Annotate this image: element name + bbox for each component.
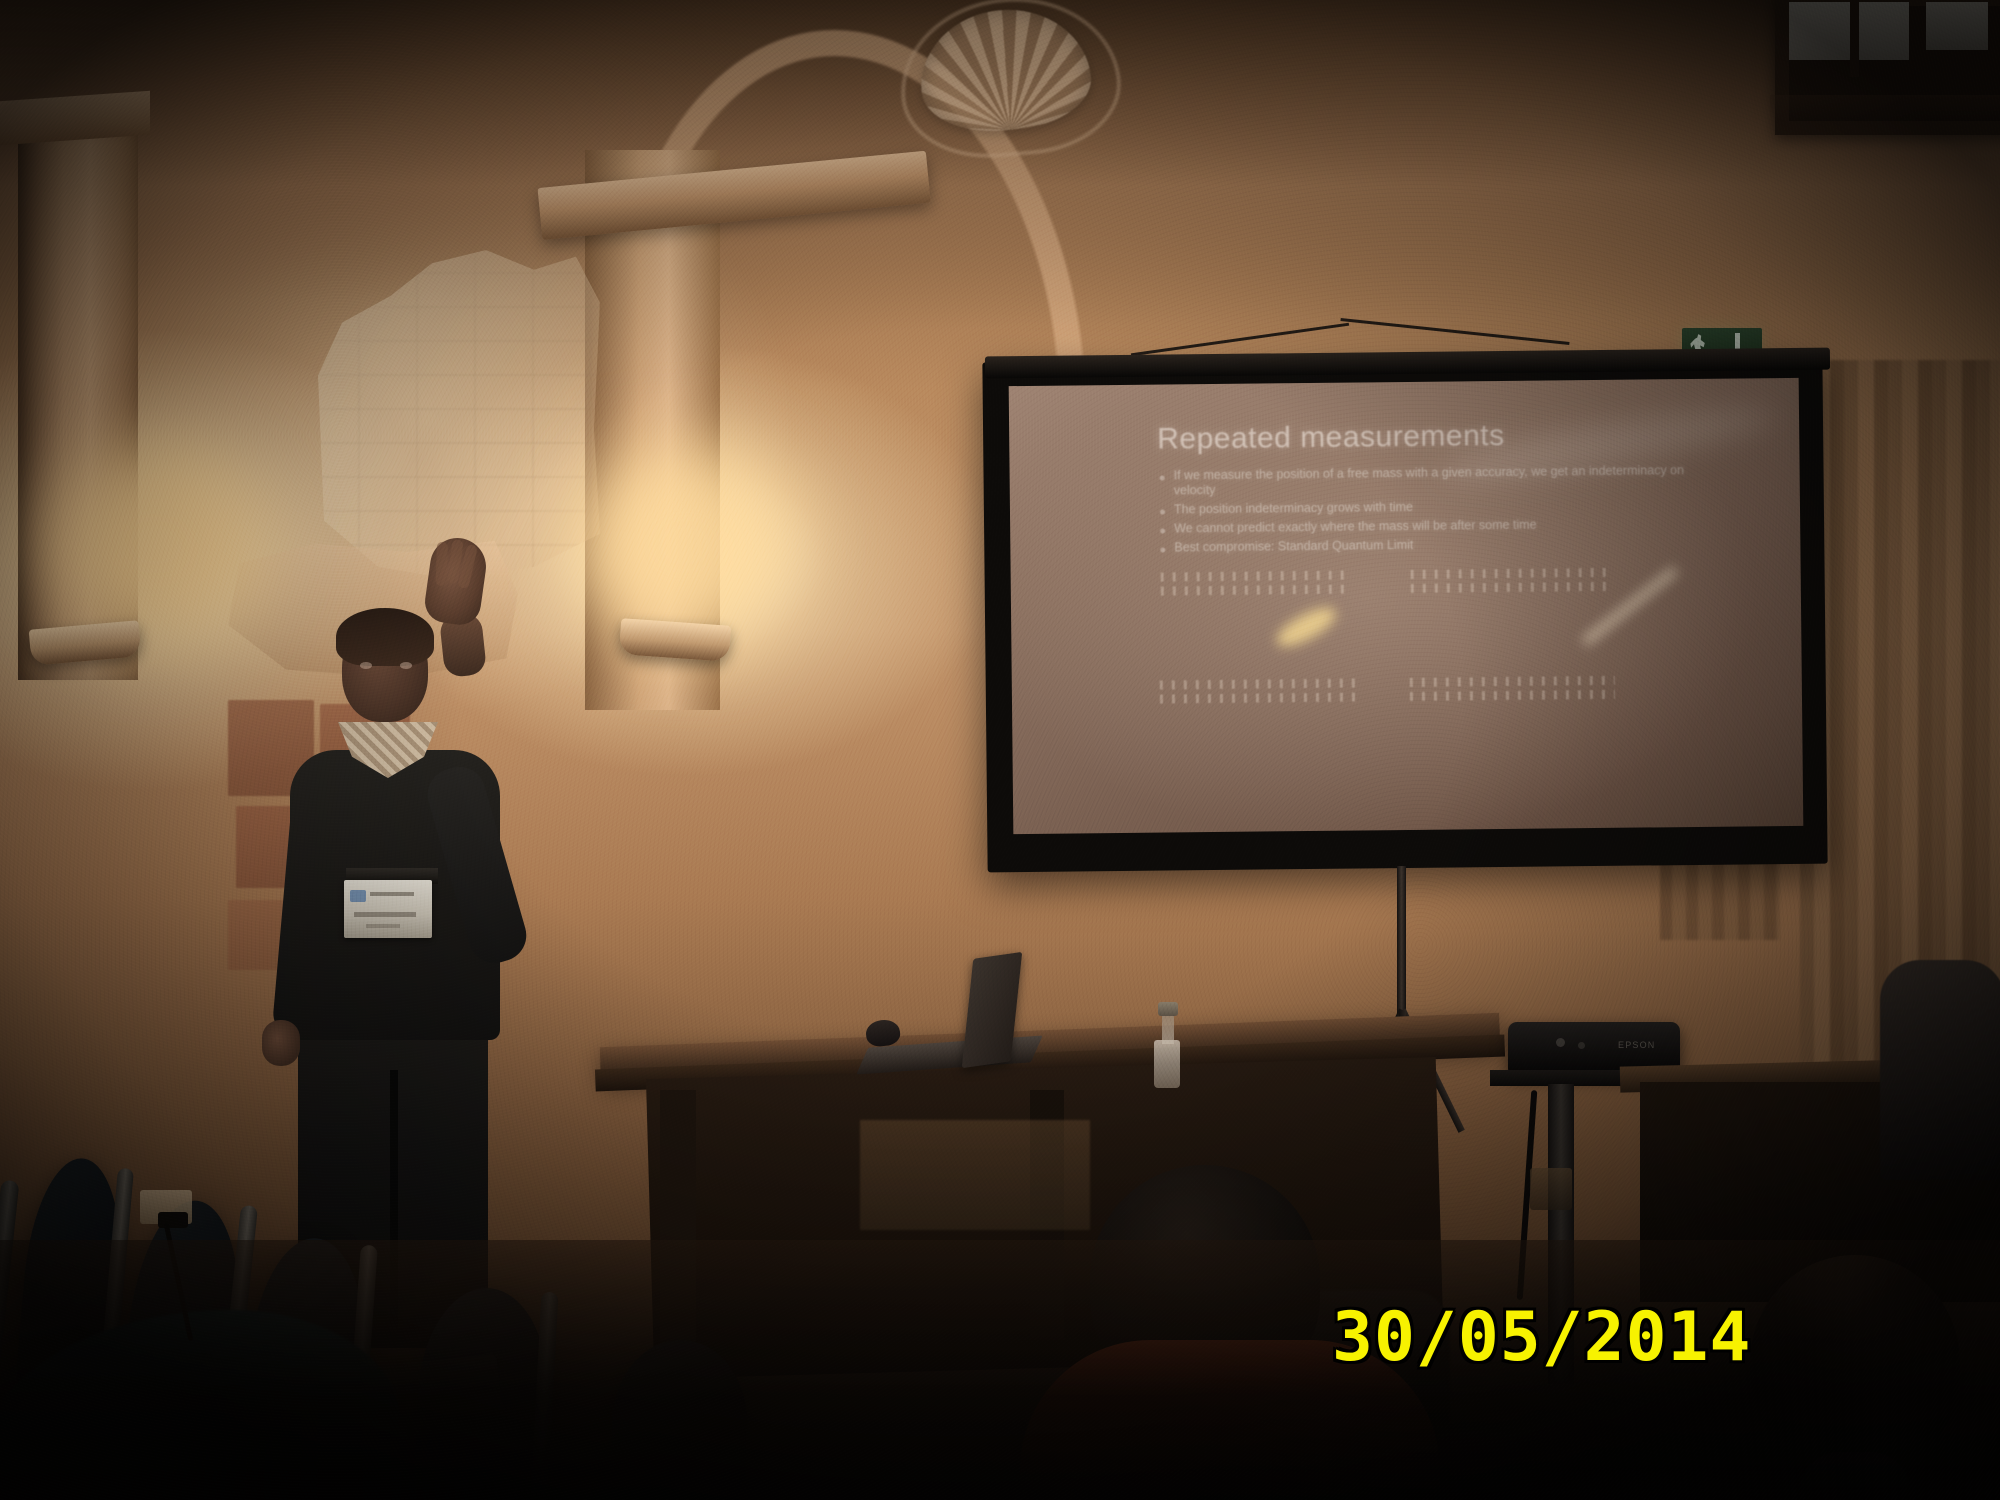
left-data-table (1161, 571, 1351, 601)
water-bottle-neck (1162, 1014, 1174, 1044)
slide-bullet-text: We cannot predict exactly where the mass… (1174, 518, 1537, 537)
badge-text-line (370, 892, 414, 896)
badge-text-line (366, 924, 400, 928)
data-row (1411, 582, 1611, 593)
bullet-dot-icon (1160, 548, 1165, 553)
lens-glare (1271, 601, 1340, 654)
presenter-name-badge (344, 880, 432, 938)
presenter-hair (336, 608, 434, 666)
badge-logo (350, 890, 366, 902)
sconce-left-glow (40, 440, 270, 650)
presenter-eye (360, 662, 372, 669)
side-chair (1880, 960, 2000, 1180)
water-bottle-cap (1158, 1002, 1178, 1016)
projection-screen-surface: Repeated measurements If we measure the … (1009, 378, 1804, 834)
projector-button[interactable] (1578, 1042, 1585, 1049)
window-pane (1789, 2, 1909, 60)
water-bottle-body (1154, 1040, 1180, 1088)
data-row (1411, 568, 1611, 579)
badge-text-line (354, 912, 416, 917)
window-pane (1926, 2, 1988, 50)
bullet-dot-icon (1160, 476, 1165, 481)
right-data-table-lower (1410, 676, 1615, 706)
power-plug (158, 1212, 188, 1228)
data-row (1410, 676, 1615, 687)
slide-bullet-item: The position indeterminacy grows with ti… (1160, 497, 1720, 518)
slide-bullet-text: The position indeterminacy grows with ti… (1174, 500, 1413, 518)
presentation-slide: Repeated measurements If we measure the … (1009, 378, 1804, 834)
right-data-table (1411, 568, 1611, 598)
floor-outlet-plate (1530, 1168, 1572, 1210)
data-row (1161, 571, 1351, 582)
left-data-table-lower (1160, 679, 1355, 709)
projector-button[interactable] (1556, 1038, 1565, 1047)
data-row (1160, 679, 1355, 690)
bullet-dot-icon (1160, 510, 1165, 515)
slide-bullet-list: If we measure the position of a free mas… (1160, 463, 1721, 560)
slide-title: Repeated measurements (1157, 419, 1505, 457)
table-front-panel (860, 1120, 1090, 1230)
slide-bullet-item: If we measure the position of a free mas… (1160, 463, 1720, 499)
photograph-canvas: Repeated measurements If we measure the … (0, 0, 2000, 1500)
presenter-lowered-hand (262, 1020, 300, 1066)
bullet-dot-icon (1160, 529, 1165, 534)
presenter-eye (400, 662, 412, 669)
data-row (1410, 690, 1615, 701)
camera-date-stamp: 30/05/2014 (1332, 1298, 1751, 1377)
screen-tripod-pole (1397, 866, 1406, 1016)
slide-bullet-text: Best compromise: Standard Quantum Limit (1174, 538, 1413, 556)
slide-bullet-item: We cannot predict exactly where the mass… (1160, 516, 1720, 537)
slide-bullet-item: Best compromise: Standard Quantum Limit (1160, 535, 1720, 556)
window-mullion (1850, 0, 1859, 77)
wall-sconce-right (619, 618, 731, 662)
window-sill (1770, 95, 2000, 119)
data-row (1161, 585, 1351, 596)
finger (435, 542, 448, 586)
projector-brand-label: EPSON (1618, 1040, 1678, 1052)
data-row (1160, 693, 1355, 704)
